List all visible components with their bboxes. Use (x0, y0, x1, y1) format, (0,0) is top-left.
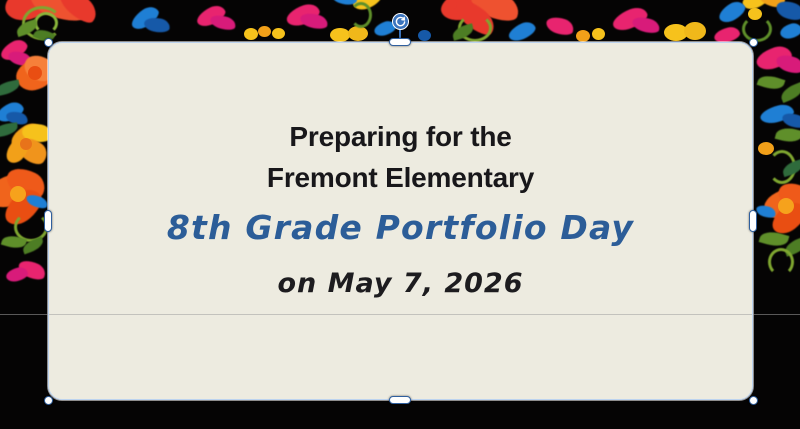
handle-bottom-center[interactable] (389, 396, 411, 404)
flower-petal (774, 52, 800, 77)
flower-stem (14, 212, 48, 242)
flower-petal (437, 0, 500, 26)
flower-petal (143, 16, 171, 34)
flower-petal (754, 43, 794, 73)
flower-petal (328, 0, 360, 8)
flower-bud (272, 28, 285, 39)
flower-leaf (781, 159, 800, 177)
flower-petal (16, 257, 48, 283)
flower-leaf (778, 82, 800, 103)
flower-leaf (783, 236, 800, 256)
flower-petal (544, 14, 576, 38)
flower-bud (244, 28, 258, 40)
slide-content-card[interactable]: Preparing for the Fremont Elementary 8th… (48, 42, 753, 400)
flower-center (20, 138, 32, 150)
title-line-1: Preparing for the (78, 116, 723, 157)
flower-stem (458, 14, 492, 42)
flower-stem (742, 16, 772, 42)
flower-petal (778, 21, 800, 41)
flower-leaf (21, 237, 45, 255)
flower-stem (34, 12, 58, 34)
flower-bud (576, 30, 590, 42)
flower-petal (14, 133, 51, 169)
flower-bud (258, 26, 271, 37)
flower-petal (0, 0, 62, 27)
flower-stem (768, 150, 796, 184)
rotate-icon[interactable] (392, 13, 409, 30)
flower-petal (467, 0, 523, 26)
flower-petal (0, 99, 26, 125)
flower-petal (209, 13, 238, 33)
flower-petal (128, 3, 162, 33)
flower-leaf (775, 125, 800, 145)
handle-top-left[interactable] (44, 38, 53, 47)
date-line: on May 7, 2026 (78, 264, 723, 305)
flower-bud (592, 28, 605, 40)
handle-top-right[interactable] (749, 38, 758, 47)
flower-petal (756, 0, 789, 11)
flower-stem (350, 2, 372, 28)
flower-petal (0, 170, 35, 212)
flower-center (10, 186, 26, 202)
flower-petal (7, 119, 46, 153)
flower-leaf (451, 23, 475, 41)
flower-petal (299, 11, 330, 31)
flower-petal (631, 14, 662, 35)
event-line: 8th Grade Portfolio Day (78, 203, 723, 253)
flower-petal (610, 4, 650, 34)
flower-petal (767, 197, 800, 239)
flower-petal (350, 0, 385, 13)
flower-petal (781, 111, 800, 131)
flower-leaf (1, 233, 27, 251)
flower-petal (5, 266, 29, 284)
flower-leaf (0, 79, 21, 96)
flower-petal (284, 1, 322, 30)
handle-middle-left[interactable] (44, 210, 52, 232)
flower-petal (7, 49, 34, 69)
flower-center (28, 66, 42, 80)
flower-petal (2, 135, 32, 167)
flower-petal (450, 0, 499, 40)
flower-petal (740, 0, 770, 12)
flower-petal (27, 0, 90, 26)
title-line-2: Fremont Elementary (78, 157, 723, 198)
flower-stem (22, 6, 62, 40)
flower-petal (506, 19, 538, 44)
flower-leaf (759, 228, 790, 249)
flower-petal (2, 163, 49, 204)
flower-bud (664, 24, 688, 41)
flower-petal (0, 36, 30, 63)
handle-bottom-right[interactable] (749, 396, 758, 405)
flower-leaf (0, 122, 19, 138)
flower-petal (759, 102, 796, 126)
flower-bud (348, 26, 368, 41)
flower-petal (755, 203, 777, 220)
handle-top-center[interactable] (389, 38, 411, 46)
flower-petal (774, 0, 800, 23)
flower-petal (54, 0, 101, 28)
flower-center (778, 198, 794, 214)
slide-text-block[interactable]: Preparing for the Fremont Elementary 8th… (48, 116, 753, 305)
flower-bud (684, 22, 706, 40)
flower-center (418, 30, 431, 41)
flower-leaf (15, 19, 40, 37)
flower-bud (758, 142, 774, 155)
flower-petal (194, 2, 228, 30)
flower-petal (5, 110, 29, 127)
flower-petal (25, 192, 50, 210)
flower-stem (768, 248, 794, 276)
flower-bud (330, 28, 350, 42)
flower-center (748, 8, 762, 20)
flower-petal (0, 183, 47, 230)
flower-petal (761, 186, 800, 223)
slide-canvas[interactable]: Preparing for the Fremont Elementary 8th… (0, 0, 800, 429)
handle-middle-right[interactable] (749, 210, 757, 232)
flower-petal (716, 0, 748, 26)
flower-petal (775, 178, 800, 214)
flower-leaf (757, 72, 786, 92)
handle-bottom-left[interactable] (44, 396, 53, 405)
